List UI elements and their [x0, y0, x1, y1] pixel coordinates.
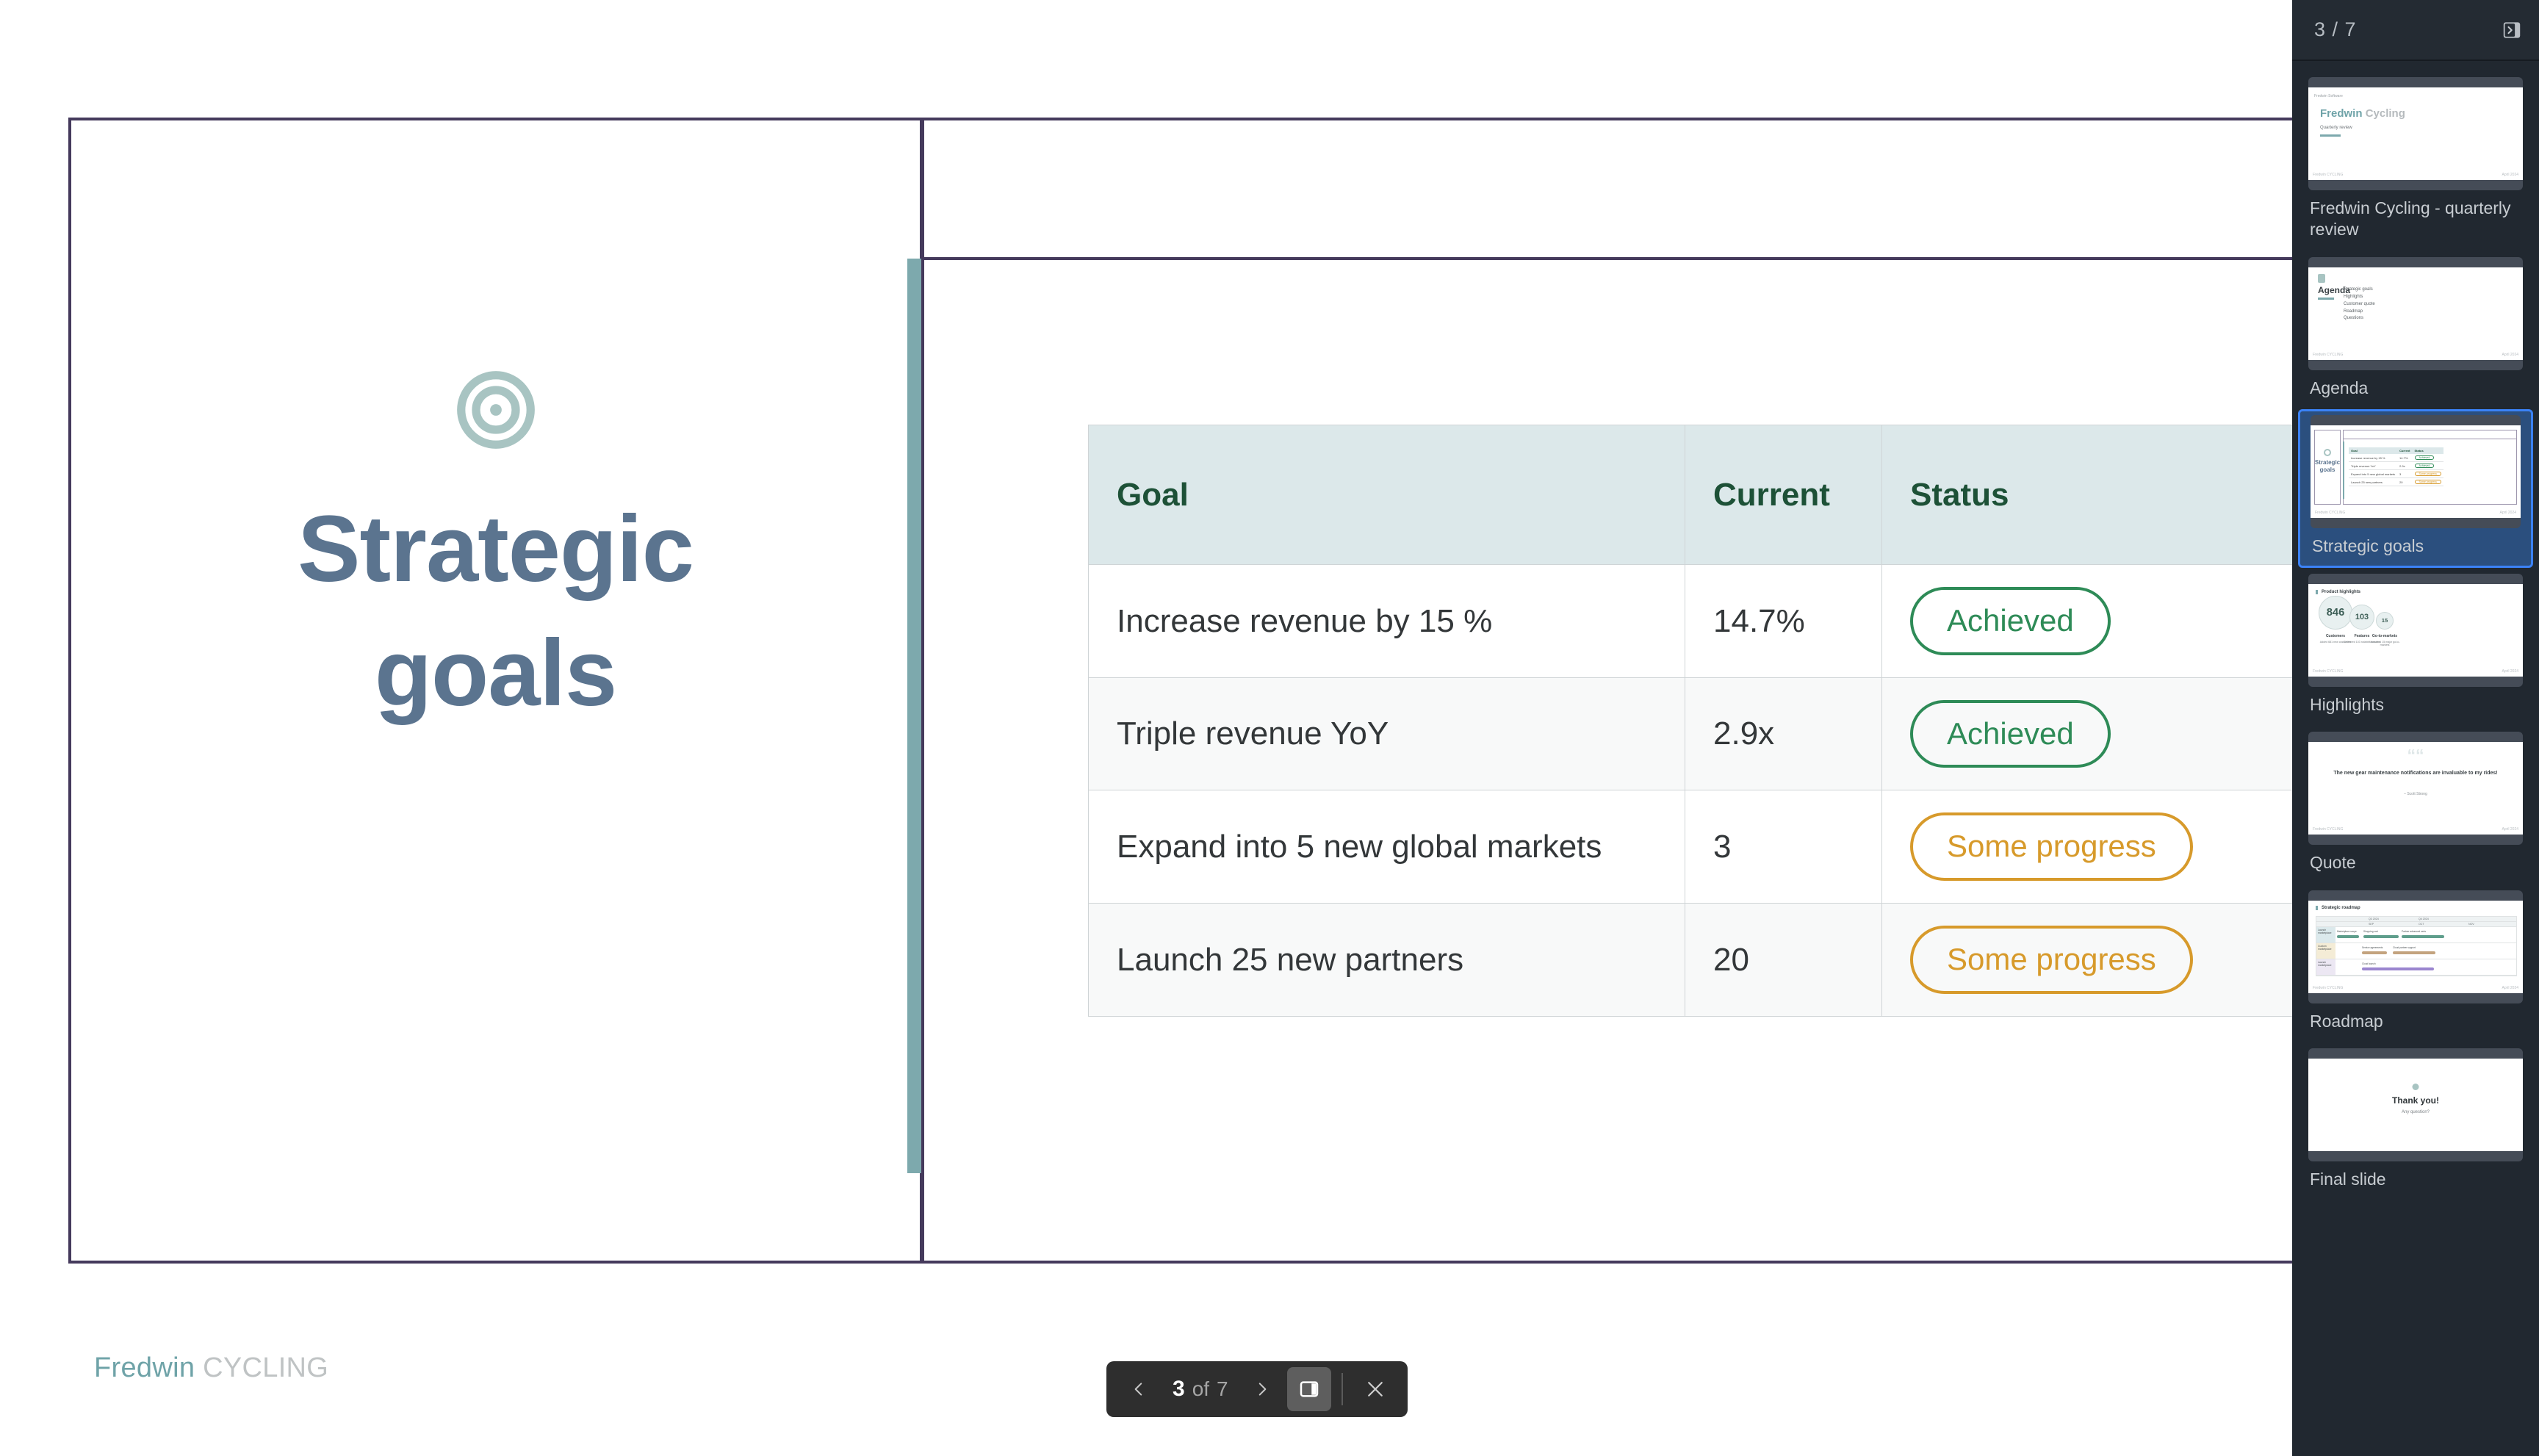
column-header-goal: Goal — [1089, 425, 1685, 565]
app-root: Strategic goals Goal Current Status Incr… — [0, 0, 2539, 1456]
status-badge: Achieved — [1910, 700, 2111, 768]
table-row: Expand into 5 new global markets3Some pr… — [1089, 790, 2293, 904]
page-title-line1: Strategic — [115, 488, 876, 612]
thumbnail-item-quote[interactable]: ““The new gear maintenance notifications… — [2292, 726, 2539, 884]
sidebar-header: 3 / 7 — [2292, 0, 2539, 61]
cell-status: Some progress — [1882, 790, 2293, 904]
cell-status: Achieved — [1882, 565, 2293, 678]
thumbnail-label: Highlights — [2308, 694, 2523, 716]
thumbnail-frame: AgendaStrategic goalsHighlightsCustomer … — [2308, 257, 2523, 370]
cell-current: 14.7% — [1685, 565, 1882, 678]
thumbnail-frame: Strategic goalsGoalCurrentStatusIncrease… — [2311, 415, 2521, 528]
previous-slide-button[interactable] — [1117, 1367, 1161, 1411]
column-header-status: Status — [1882, 425, 2293, 565]
thumbnail-frame: Strategic roadmapQ3 2024Q4 2024SEPOCTNOV… — [2308, 890, 2523, 1003]
next-slide-button[interactable] — [1240, 1367, 1284, 1411]
thumbnail-label: Agenda — [2308, 378, 2523, 399]
footer-suffix: CYCLING — [203, 1352, 328, 1383]
table-row: Increase revenue by 15 %14.7%Achieved — [1089, 565, 2293, 678]
thumbnail-item-strategic-goals[interactable]: Strategic goalsGoalCurrentStatusIncrease… — [2298, 409, 2533, 567]
page-title: Strategic goals — [115, 488, 876, 736]
thumbnail-item-fredwin-cycling-quarterly-review[interactable]: Fredwin SoftwareFredwin CyclingQuarterly… — [2292, 71, 2539, 251]
thumbnail-preview: Strategic roadmapQ3 2024Q4 2024SEPOCTNOV… — [2308, 901, 2523, 993]
cell-current: 3 — [1685, 790, 1882, 904]
thumbnail-preview: Thank you!Any question? — [2308, 1059, 2523, 1151]
slide-navigation-toolbar: 3 of 7 — [1106, 1361, 1408, 1417]
sidebar-slide-counter: 3 / 7 — [2314, 18, 2357, 41]
total-pages-number: 7 — [1217, 1377, 1228, 1401]
slide-thumbnail-sidebar: 3 / 7 Fredwin SoftwareFredwin CyclingQua… — [2292, 0, 2539, 1456]
cell-current: 20 — [1685, 904, 1882, 1017]
column-header-current: Current — [1685, 425, 1882, 565]
thumbnail-preview: AgendaStrategic goalsHighlightsCustomer … — [2308, 267, 2523, 360]
thumbnail-item-highlights[interactable]: Product highlights846CustomersAdded 681 … — [2292, 568, 2539, 726]
table-header-row: Goal Current Status — [1089, 425, 2293, 565]
thumbnail-item-agenda[interactable]: AgendaStrategic goalsHighlightsCustomer … — [2292, 251, 2539, 409]
slide-footer: Fredwin CYCLING — [94, 1352, 328, 1384]
panel-right-icon — [1298, 1378, 1320, 1400]
footer-brand: Fredwin — [94, 1352, 195, 1383]
cell-current: 2.9x — [1685, 677, 1882, 790]
slide-canvas: Strategic goals Goal Current Status Incr… — [0, 0, 2292, 1456]
thumbnail-preview: Fredwin SoftwareFredwin CyclingQuarterly… — [2308, 87, 2523, 180]
page-of-label: of — [1192, 1377, 1209, 1401]
table-row: Launch 25 new partners20Some progress — [1089, 904, 2293, 1017]
thumbnail-label: Strategic goals — [2311, 536, 2521, 557]
thumbnail-item-final-slide[interactable]: Thank you!Any question?Final slide — [2292, 1042, 2539, 1200]
page-title-line2: goals — [115, 612, 876, 736]
thumbnail-preview: Product highlights846CustomersAdded 681 … — [2308, 584, 2523, 677]
thumbnail-label: Fredwin Cycling - quarterly review — [2308, 198, 2523, 241]
thumbnail-frame: Thank you!Any question? — [2308, 1048, 2523, 1161]
slide-title-panel: Strategic goals — [68, 118, 923, 1264]
cell-goal: Expand into 5 new global markets — [1089, 790, 1685, 904]
cell-status: Some progress — [1882, 904, 2293, 1017]
status-badge: Some progress — [1910, 926, 2193, 994]
target-icon — [456, 370, 536, 450]
cell-goal: Launch 25 new partners — [1089, 904, 1685, 1017]
slide-content-header — [924, 120, 2292, 260]
thumbnail-list: Fredwin SoftwareFredwin CyclingQuarterly… — [2292, 61, 2539, 1223]
cell-goal: Increase revenue by 15 % — [1089, 565, 1685, 678]
thumbnail-item-roadmap[interactable]: Strategic roadmapQ3 2024Q4 2024SEPOCTNOV… — [2292, 884, 2539, 1042]
toggle-sidebar-button[interactable] — [1287, 1367, 1331, 1411]
close-icon — [1364, 1378, 1386, 1400]
thumbnail-preview: Strategic goalsGoalCurrentStatusIncrease… — [2311, 425, 2521, 518]
thumbnail-label: Roadmap — [2308, 1011, 2523, 1032]
cell-status: Achieved — [1882, 677, 2293, 790]
status-badge: Some progress — [1910, 812, 2193, 881]
chevron-right-icon — [1253, 1378, 1272, 1400]
close-presentation-button[interactable] — [1353, 1367, 1397, 1411]
thumbnail-frame: ““The new gear maintenance notifications… — [2308, 732, 2523, 845]
collapse-panel-icon — [2501, 21, 2523, 40]
thumbnail-frame: Fredwin SoftwareFredwin CyclingQuarterly… — [2308, 77, 2523, 190]
toolbar-divider — [1341, 1373, 1343, 1405]
cell-goal: Triple revenue YoY — [1089, 677, 1685, 790]
current-page-number: 3 — [1173, 1377, 1185, 1402]
status-badge: Achieved — [1910, 587, 2111, 655]
thumbnail-frame: Product highlights846CustomersAdded 681 … — [2308, 574, 2523, 687]
accent-bar — [907, 259, 921, 1173]
thumbnail-label: Final slide — [2308, 1169, 2523, 1190]
thumbnail-label: Quote — [2308, 852, 2523, 873]
page-indicator: 3 of 7 — [1164, 1377, 1237, 1402]
collapse-panel-button[interactable] — [2499, 20, 2524, 40]
strategic-goals-table: Goal Current Status Increase revenue by … — [1088, 425, 2292, 1017]
thumbnail-preview: ““The new gear maintenance notifications… — [2308, 742, 2523, 835]
table-row: Triple revenue YoY2.9xAchieved — [1089, 677, 2293, 790]
chevron-left-icon — [1129, 1378, 1148, 1400]
